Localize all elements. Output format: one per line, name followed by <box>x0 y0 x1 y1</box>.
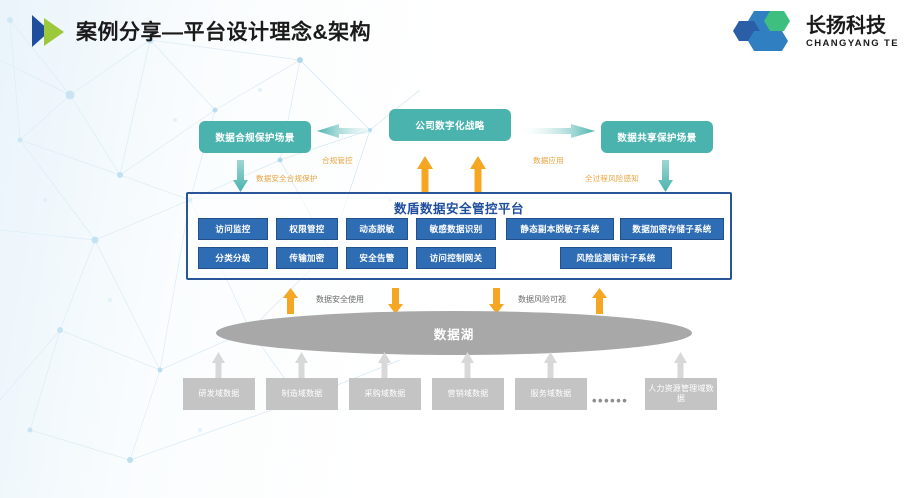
arrow-up-orange-b-icon <box>470 156 486 192</box>
source-box-marketing-domain-data[interactable]: 营销域数据 <box>432 378 504 410</box>
source-box-manufacturing-domain-data[interactable]: 制造域数据 <box>266 378 338 410</box>
slide-header: 案例分享—平台设计理念&架构 C 长扬科技 CHANGYANG TECH <box>0 0 916 62</box>
arrow-up-grey-5-icon <box>544 352 557 378</box>
arrow-down-risk-icon <box>658 160 673 192</box>
box-data-compliance-scenario[interactable]: 数据合规保护场景 <box>199 121 311 153</box>
source-box-service-domain-data[interactable]: 服务域数据 <box>515 378 587 410</box>
module-permission-control[interactable]: 权限管控 <box>276 218 338 240</box>
platform-panel: 数盾数据安全管控平台 访问监控 权限管控 动态脱敏 敏感数据识别 静态副本脱敏子… <box>186 192 732 280</box>
caption-data-application: 数据应用 <box>533 155 564 166</box>
module-risk-monitoring-audit-subsystem[interactable]: 风险监测审计子系统 <box>560 247 672 269</box>
arrow-right-icon <box>519 124 595 138</box>
data-lake-ellipse: 数据湖 <box>216 311 692 355</box>
source-box-hr-domain-data[interactable]: 人力资源管理域数据 <box>645 378 717 410</box>
box-company-digital-strategy[interactable]: 公司数字化战略 <box>389 109 511 141</box>
module-access-monitoring[interactable]: 访问监控 <box>198 218 268 240</box>
arrow-up-grey-2-icon <box>295 352 308 378</box>
module-transmission-encryption[interactable]: 传输加密 <box>276 247 338 269</box>
module-dynamic-masking[interactable]: 动态脱敏 <box>346 218 408 240</box>
brand-name-cn: 长扬科技 <box>806 13 887 37</box>
arrow-up-grey-3-icon <box>378 352 391 378</box>
changyang-hexagon-c-icon: C 长扬科技 CHANGYANG TECH <box>730 8 898 54</box>
module-sensitive-data-identification[interactable]: 敏感数据识别 <box>416 218 496 240</box>
module-classification-grading[interactable]: 分类分级 <box>198 247 268 269</box>
arrow-down-compliance-icon <box>233 160 248 192</box>
slide-canvas: 案例分享—平台设计理念&架构 C 长扬科技 CHANGYANG TECH 公司数… <box>0 0 916 498</box>
arrow-up-grey-4-icon <box>461 352 474 378</box>
caption-data-secure-use: 数据安全使用 <box>316 294 364 305</box>
caption-compliance-control: 合规管控 <box>322 155 353 166</box>
caption-security-compliance-protection: 数据安全合规保护 <box>256 173 318 184</box>
arrow-up-orange-a-icon <box>417 156 433 192</box>
page-title: 案例分享—平台设计理念&架构 <box>76 16 371 46</box>
source-box-procurement-domain-data[interactable]: 采购域数据 <box>349 378 421 410</box>
arrow-down-orange-2-icon <box>489 288 504 314</box>
play-triangle-icon <box>30 13 68 49</box>
box-data-sharing-scenario[interactable]: 数据共享保护场景 <box>601 121 713 153</box>
arrow-down-orange-1-icon <box>388 288 403 314</box>
module-security-alert[interactable]: 安全告警 <box>346 247 408 269</box>
module-data-encryption-storage-subsystem[interactable]: 数据加密存储子系统 <box>620 218 724 240</box>
caption-full-process-risk-perception: 全过程风险感知 <box>585 173 639 184</box>
arrow-left-icon <box>317 124 383 138</box>
module-access-control-gateway[interactable]: 访问控制网关 <box>416 247 496 269</box>
brand-name-en: CHANGYANG TECH <box>806 38 898 49</box>
source-ellipsis: •••••• <box>592 393 628 408</box>
arrow-up-grey-1-icon <box>212 352 225 378</box>
arrow-up-orange-2-icon <box>592 288 607 314</box>
arrow-up-orange-1-icon <box>283 288 298 314</box>
caption-data-risk-visible: 数据风险可视 <box>518 294 566 305</box>
source-box-rd-domain-data[interactable]: 研发域数据 <box>183 378 255 410</box>
platform-title: 数盾数据安全管控平台 <box>188 198 730 217</box>
arrow-up-grey-6-icon <box>674 352 687 378</box>
module-static-copy-masking-subsystem[interactable]: 静态副本脱敏子系统 <box>506 218 614 240</box>
